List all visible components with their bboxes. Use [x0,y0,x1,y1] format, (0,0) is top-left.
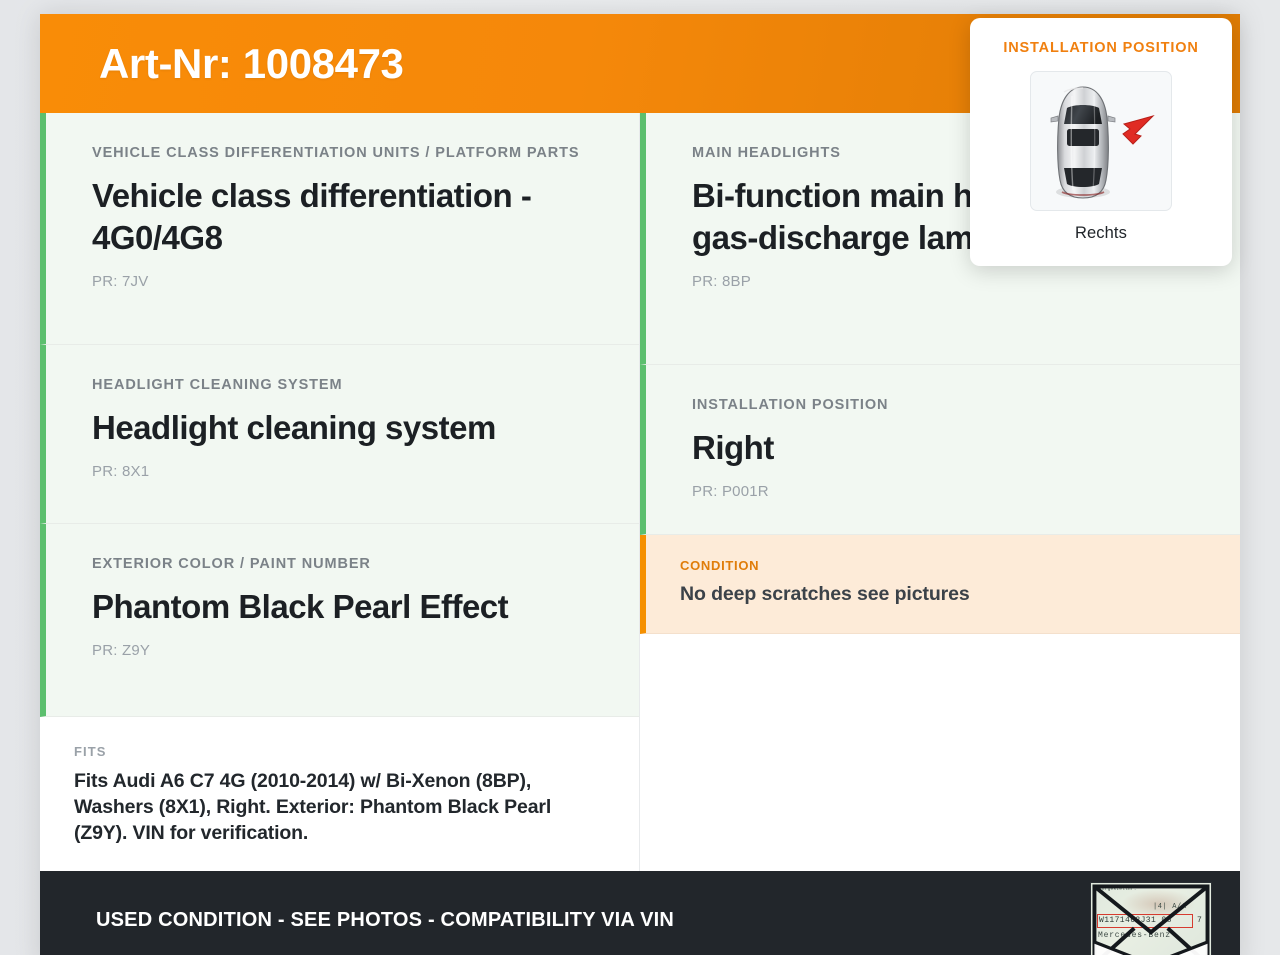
footer-text: USED CONDITION - SEE PHOTOS - COMPATIBIL… [96,909,674,932]
spec-value: Right [692,427,1206,469]
fits-description: Fits Audi A6 C7 4G (2010-2014) w/ Bi-Xen… [74,769,605,847]
spec-label: INSTALLATION POSITION [692,395,1206,416]
spec-label: HEADLIGHT CLEANING SYSTEM [92,375,605,396]
car-position-image-frame [1030,71,1172,211]
footer-bar: USED CONDITION - SEE PHOTOS - COMPATIBIL… [40,871,1240,955]
fits-label: FITS [74,743,605,762]
spec-label: EXTERIOR COLOR / PAINT NUMBER [92,554,605,575]
spec-card-headlight-cleaning[interactable]: HEADLIGHT CLEANING SYSTEM Headlight clea… [40,345,639,524]
spec-column-left: VEHICLE CLASS DIFFERENTIATION UNITS / PL… [40,113,640,877]
condition-card[interactable]: CONDITION No deep scratches see pictures [640,535,1240,634]
spec-value: Vehicle class differentiation - 4G0/4G8 [92,175,605,259]
screen-background: Art-Nr: 1008473 VEHICLE CLASS DIFFERENTI… [0,0,1280,955]
spec-label: VEHICLE CLASS DIFFERENTIATION UNITS / PL… [92,143,605,164]
spec-pr-code: PR: P001R [692,483,1206,500]
envelope-icon [1091,883,1211,955]
spec-card-vehicle-class[interactable]: VEHICLE CLASS DIFFERENTIATION UNITS / PL… [40,113,639,345]
car-top-view-icon [1031,72,1173,212]
spec-value: Phantom Black Pearl Effect [92,586,605,628]
spec-pr-code: PR: 8X1 [92,463,605,480]
spec-pr-code: PR: Z9Y [92,642,605,659]
spec-pr-code: PR: 8BP [692,273,1206,290]
page-title: Art-Nr: 1008473 [99,43,404,85]
condition-label: CONDITION [680,557,1206,576]
spec-value: Headlight cleaning system [92,407,605,449]
spec-card-exterior-color[interactable]: EXTERIOR COLOR / PAINT NUMBER Phantom Bl… [40,524,639,717]
fits-card: FITS Fits Audi A6 C7 4G (2010-2014) w/ B… [40,717,639,877]
vin-document-thumbnail[interactable]: Fahrgestellnr. |4| A/A W1171463J31 08 7 … [1090,882,1212,955]
position-arrow-icon [1123,116,1153,144]
spec-pr-code: PR: 7JV [92,273,605,290]
overlay-title: INSTALLATION POSITION [990,40,1212,56]
condition-text: No deep scratches see pictures [680,582,1206,607]
spec-card-installation-position[interactable]: INSTALLATION POSITION Right PR: P001R [640,365,1240,535]
overlay-caption: Rechts [990,224,1212,243]
installation-position-overlay[interactable]: INSTALLATION POSITION [970,18,1232,266]
